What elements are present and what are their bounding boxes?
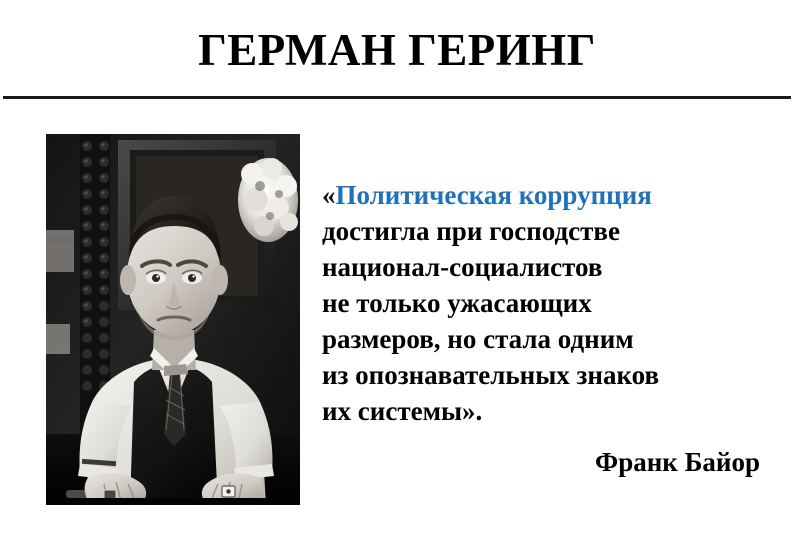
quote-attribution: Франк Байор — [322, 444, 760, 480]
quote-line-3: национал-социалистов — [322, 249, 772, 285]
quote-text: «Политическая коррупция достигла при гос… — [322, 177, 772, 429]
quote-line-1-text: Политическая коррупция — [336, 180, 652, 210]
quote-line-6: из опознавательных знаков — [322, 357, 772, 393]
quote-line-2: достигла при господстве — [322, 213, 772, 249]
portrait-photo — [46, 134, 300, 505]
open-quote-mark: « — [322, 180, 336, 210]
slide-canvas: ГЕРМАН ГЕРИНГ — [0, 0, 794, 542]
quote-line-7: их системы». — [322, 393, 772, 429]
title-divider — [3, 96, 791, 99]
page-title: ГЕРМАН ГЕРИНГ — [0, 24, 794, 76]
quote-line-5: размеров, но стала одним — [322, 321, 772, 357]
quote-line-4: не только ужасающих — [322, 285, 772, 321]
quote-line-1: «Политическая коррупция — [322, 177, 772, 213]
portrait-photo-graphic — [46, 134, 300, 505]
